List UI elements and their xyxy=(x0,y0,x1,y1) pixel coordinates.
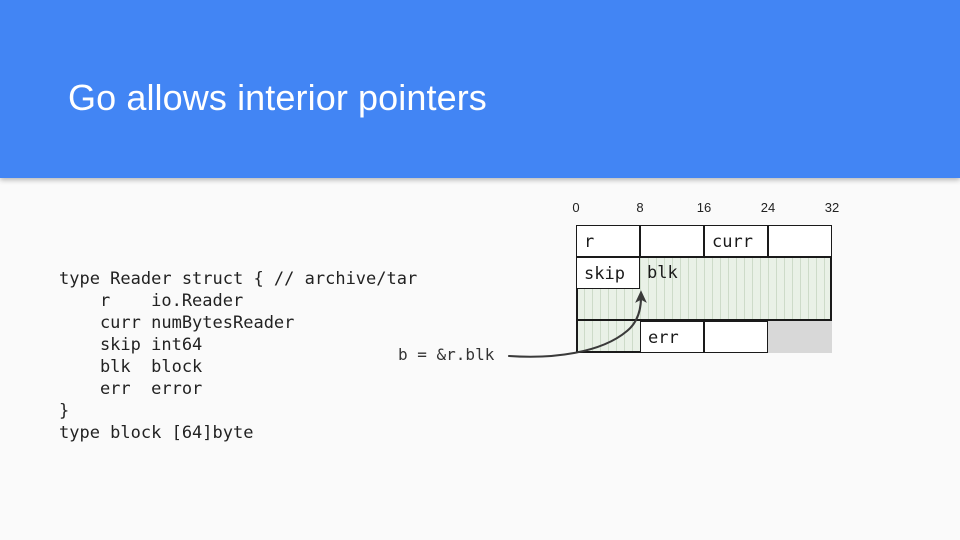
blk-array-region-row2 xyxy=(576,289,832,321)
field-cell-err: err xyxy=(640,321,704,353)
field-cell-r: r xyxy=(576,225,640,257)
blk-region-left-rule xyxy=(576,289,578,353)
blk-array-region-row3 xyxy=(576,321,640,353)
struct-padding-block xyxy=(768,321,832,353)
slide-header-banner: Go allows interior pointers xyxy=(0,0,960,178)
field-cell-curr: curr xyxy=(704,225,768,257)
field-cell-curr-second-word xyxy=(768,225,832,257)
field-cell-r-second-word xyxy=(640,225,704,257)
field-label-blk: blk xyxy=(640,257,736,289)
blk-region-right-rule xyxy=(830,257,832,321)
ruler-tick-8: 8 xyxy=(636,200,643,215)
struct-bottom-rule xyxy=(576,351,640,353)
byte-offset-ruler: 0 8 16 24 32 xyxy=(576,200,832,220)
field-cell-err-second-word xyxy=(704,321,768,353)
ruler-tick-32: 32 xyxy=(825,200,839,215)
struct-memory-layout-diagram: r curr skip blk err xyxy=(576,225,832,353)
pointer-annotation-label: b = &r.blk xyxy=(398,345,494,364)
field-cell-skip: skip xyxy=(576,257,640,289)
ruler-tick-0: 0 xyxy=(572,200,579,215)
ruler-tick-16: 16 xyxy=(697,200,711,215)
go-struct-code: type Reader struct { // archive/tar r io… xyxy=(59,268,417,444)
page-title: Go allows interior pointers xyxy=(68,77,487,119)
ruler-tick-24: 24 xyxy=(761,200,775,215)
blk-region-top-rule xyxy=(640,256,832,258)
blk-region-bottom-rule xyxy=(576,319,832,321)
